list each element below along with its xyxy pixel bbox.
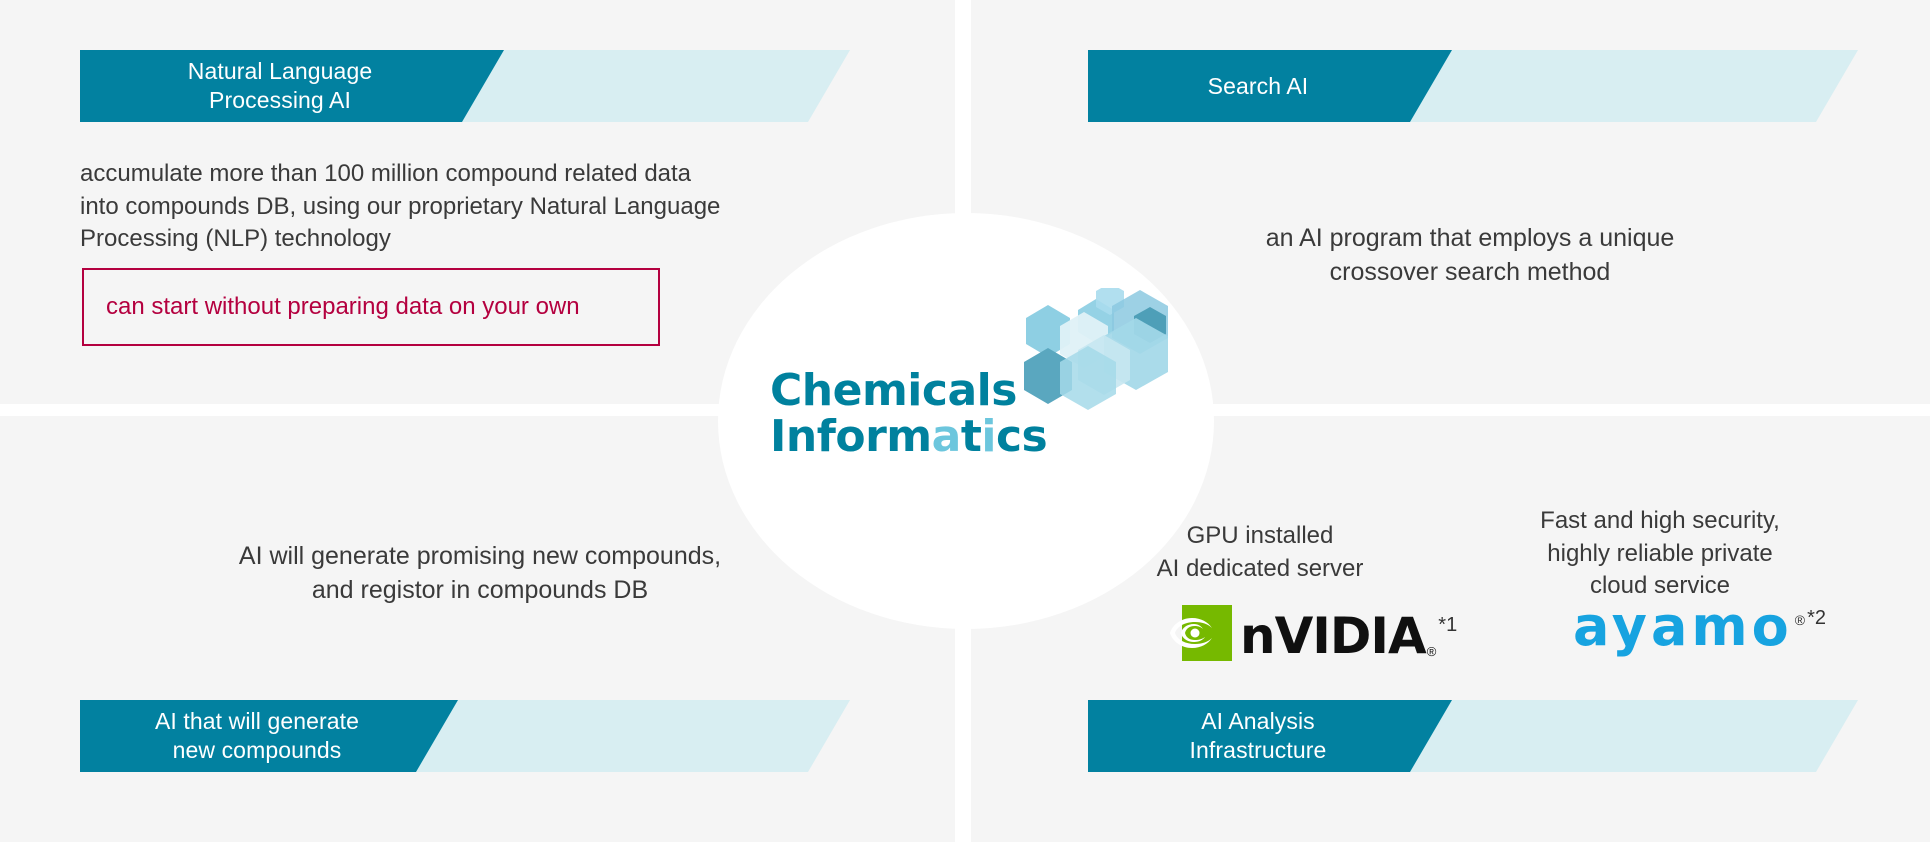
description-nlp: accumulate more than 100 million compoun… [80,158,880,256]
ayamo-footnote-marker: *2 [1807,607,1826,630]
ayamo-logo: ayamo ® *2 [1573,600,1826,654]
logo-part-t: t [961,411,982,462]
banner-dark-head: Search AI [1088,50,1452,122]
banner-label-search-ai: Search AI [1198,72,1343,101]
callout-label: can start without preparing data on your… [84,291,580,322]
logo-part-i: i [981,411,996,462]
ayamo-wordmark: ayamo [1573,600,1793,654]
banner-dark-head: AI Analysis Infrastructure [1088,700,1452,772]
chemicals-informatics-logo: Chemicals Informatics [760,300,1180,510]
callout-no-data-preparation: can start without preparing data on your… [82,268,660,346]
nvidia-wordmark: nVIDIA [1240,611,1426,661]
logo-part-a: a [932,411,961,462]
nvidia-eye-icon [1168,605,1232,661]
banner-natural-language-processing-ai: Natural Language Processing AI [80,50,850,122]
logo-line-chemicals: Chemicals [770,368,1047,414]
logo-wordmark: Chemicals Informatics [770,368,1047,460]
banner-label-nlp: Natural Language Processing AI [178,57,406,115]
logo-part-cs: cs [996,411,1047,462]
logo-part-inform: Inform [770,411,932,462]
nvidia-footnote-marker: *1 [1438,614,1457,637]
slide-canvas: Natural Language Processing AI accumulat… [0,0,1930,842]
description-private-cloud: Fast and high security, highly reliable … [1480,505,1840,603]
nvidia-logo: nVIDIA ® *1 [1168,605,1457,661]
banner-ai-that-will-generate-new-compounds: AI that will generate new compounds [80,700,850,772]
ayamo-registered-mark: ® [1795,612,1805,628]
banner-dark-head: AI that will generate new compounds [80,700,458,772]
banner-label-generate: AI that will generate new compounds [145,707,393,765]
banner-search-ai: Search AI [1088,50,1858,122]
banner-ai-analysis-infrastructure: AI Analysis Infrastructure [1088,700,1858,772]
banner-dark-head: Natural Language Processing AI [80,50,504,122]
description-search-ai: an AI program that employs a unique cros… [1060,222,1880,290]
banner-label-infrastructure: AI Analysis Infrastructure [1180,707,1361,765]
logo-line-informatics: Informatics [770,414,1047,460]
nvidia-registered-mark: ® [1427,644,1437,659]
